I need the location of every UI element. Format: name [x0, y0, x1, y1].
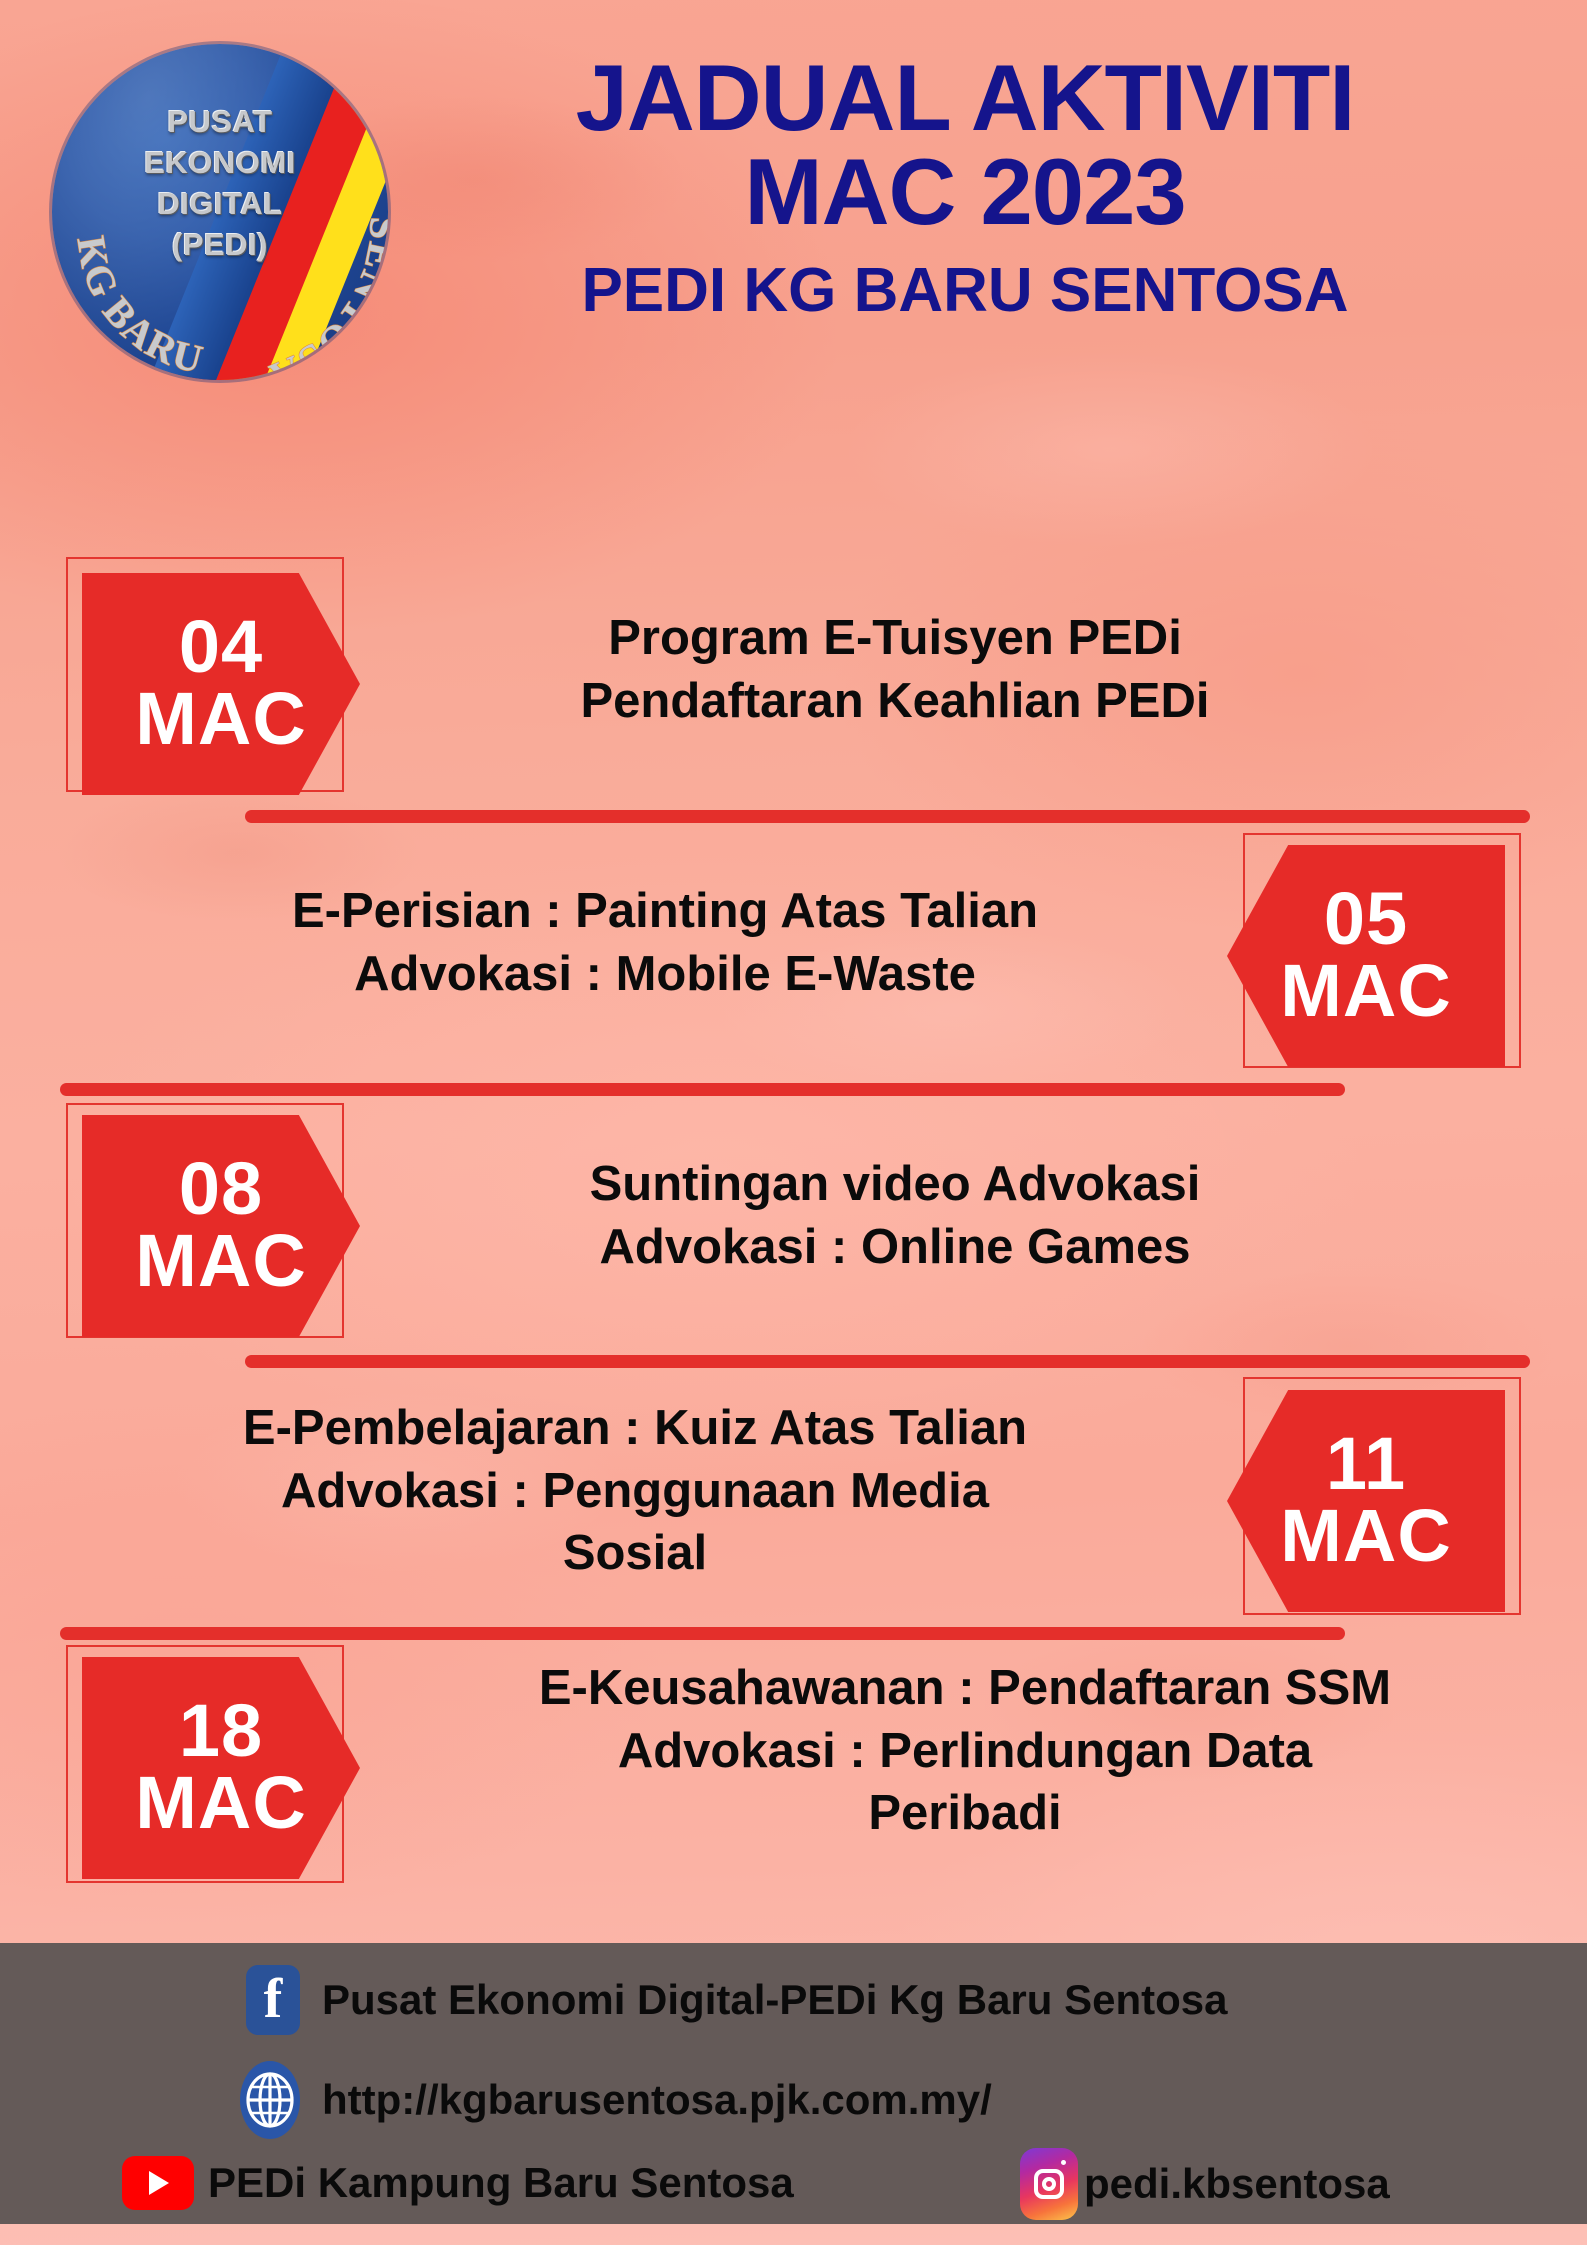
activity-line: E-Perisian : Painting Atas Talian: [150, 880, 1180, 943]
footer-facebook-row[interactable]: Pusat Ekonomi Digital-PEDi Kg Baru Sento…: [246, 1965, 1227, 2035]
footer-instagram-row[interactable]: pedi.kbsentosa: [1020, 2148, 1390, 2220]
youtube-handle: PEDi Kampung Baru Sentosa: [208, 2159, 794, 2207]
poster-title-block: JADUAL AKTIVITI MAC 2023 PEDI KG BARU SE…: [380, 52, 1550, 329]
activity-text: E-Pembelajaran : Kuiz Atas Talian Advoka…: [90, 1397, 1180, 1585]
activity-text: Suntingan video Advokasi Advokasi : Onli…: [390, 1153, 1400, 1278]
row-divider: [245, 1355, 1530, 1368]
footer-website-row[interactable]: http://kgbarusentosa.pjk.com.my/: [240, 2061, 992, 2139]
instagram-icon[interactable]: [1020, 2148, 1078, 2220]
row-divider: [60, 1083, 1345, 1096]
logo-arc-text: KG BARU SENTOSA: [52, 44, 388, 380]
instagram-dot: [1061, 2160, 1066, 2165]
badge-month: MAC: [1280, 954, 1452, 1028]
badge-month: MAC: [135, 1224, 307, 1298]
activity-text: Program E-Tuisyen PEDi Pendaftaran Keahl…: [390, 607, 1400, 732]
youtube-icon[interactable]: [122, 2156, 194, 2210]
logo-arc-right: SENTOSA: [262, 216, 388, 380]
badge-day: 18: [179, 1696, 263, 1766]
logo-arc-left: KG BARU: [68, 233, 208, 380]
activity-line: Sosial: [90, 1522, 1180, 1585]
activity-text: E-Keusahawanan : Pendaftaran SSM Advokas…: [380, 1657, 1550, 1845]
activity-line: E-Keusahawanan : Pendaftaran SSM: [380, 1657, 1550, 1720]
activity-line: Advokasi : Penggunaan Media: [90, 1460, 1180, 1523]
instagram-lens: [1042, 2177, 1056, 2191]
poster-footer: Pusat Ekonomi Digital-PEDi Kg Baru Sento…: [0, 1943, 1587, 2224]
badge-day: 08: [179, 1154, 263, 1224]
website-url: http://kgbarusentosa.pjk.com.my/: [322, 2076, 992, 2124]
activity-line: Pendaftaran Keahlian PEDi: [390, 670, 1400, 733]
activity-line: Advokasi : Online Games: [390, 1216, 1400, 1279]
activity-line: Program E-Tuisyen PEDi: [390, 607, 1400, 670]
activity-text: E-Perisian : Painting Atas Talian Advoka…: [150, 880, 1180, 1005]
badge-month: MAC: [135, 682, 307, 756]
activity-line: Advokasi : Perlindungan Data: [380, 1720, 1550, 1783]
activity-line: Suntingan video Advokasi: [390, 1153, 1400, 1216]
globe-icon[interactable]: [240, 2061, 300, 2139]
badge-day: 05: [1324, 884, 1408, 954]
footer-youtube-row[interactable]: PEDi Kampung Baru Sentosa: [122, 2156, 794, 2210]
instagram-handle: pedi.kbsentosa: [1084, 2160, 1390, 2208]
facebook-icon[interactable]: [246, 1965, 300, 2035]
badge-day: 04: [179, 612, 263, 682]
facebook-handle: Pusat Ekonomi Digital-PEDi Kg Baru Sento…: [322, 1976, 1227, 2024]
row-divider: [60, 1627, 1345, 1640]
poster-canvas: PUSAT EKONOMI DIGITAL (PEDI) KG BARU SEN…: [0, 0, 1587, 2245]
activity-line: E-Pembelajaran : Kuiz Atas Talian: [90, 1397, 1180, 1460]
badge-month: MAC: [1280, 1499, 1452, 1573]
title-line-1: JADUAL AKTIVITI: [380, 52, 1550, 144]
pedi-logo: PUSAT EKONOMI DIGITAL (PEDI) KG BARU SEN…: [52, 44, 388, 380]
badge-month: MAC: [135, 1766, 307, 1840]
poster-header: PUSAT EKONOMI DIGITAL (PEDI) KG BARU SEN…: [0, 0, 1587, 500]
activity-line: Peribadi: [380, 1782, 1550, 1845]
badge-day: 11: [1326, 1429, 1406, 1499]
title-line-2: MAC 2023: [380, 144, 1550, 240]
row-divider: [245, 810, 1530, 823]
activity-line: Advokasi : Mobile E-Waste: [150, 943, 1180, 1006]
poster-subtitle: PEDI KG BARU SENTOSA: [380, 252, 1550, 330]
